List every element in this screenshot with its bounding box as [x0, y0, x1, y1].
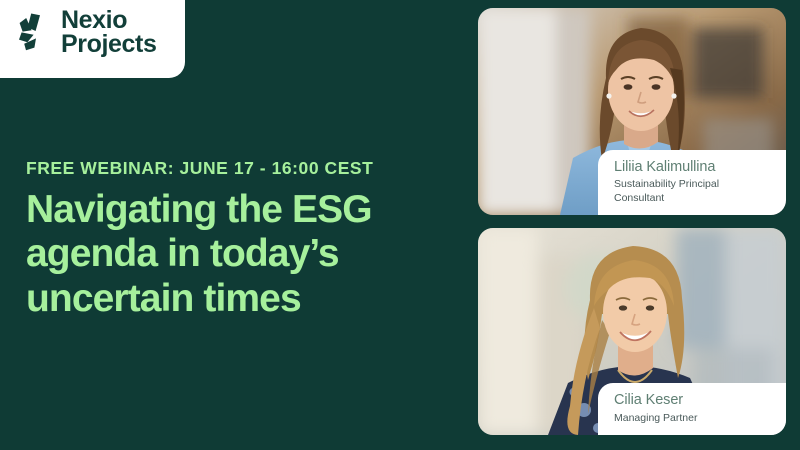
webinar-promo-banner: Nexio Projects FREE WEBINAR: JUNE 17 - 1…: [0, 0, 800, 450]
brand-wordmark: Nexio Projects: [61, 8, 156, 57]
speaker-name: Liliia Kalimullina: [614, 159, 772, 176]
brand-logo-plate[interactable]: Nexio Projects: [0, 0, 185, 78]
logo-line-1: Nexio: [61, 8, 156, 33]
speaker-role: Sustainability Principal Consultant: [614, 178, 764, 205]
speaker-nameplate: Liliia Kalimullina Sustainability Princi…: [598, 150, 786, 215]
speaker-role: Managing Partner: [614, 412, 764, 425]
nexio-starburst-mark-icon: [18, 12, 52, 52]
promo-copy-block: FREE WEBINAR: JUNE 17 - 16:00 CEST Navig…: [26, 158, 446, 321]
speaker-card[interactable]: Liliia Kalimullina Sustainability Princi…: [478, 8, 786, 215]
speaker-nameplate: Cilia Keser Managing Partner: [598, 383, 786, 435]
page-title: Navigating the ESG agenda in today’s unc…: [26, 188, 446, 321]
speaker-name: Cilia Keser: [614, 392, 772, 409]
logo-line-2: Projects: [61, 32, 156, 57]
speaker-card[interactable]: Cilia Keser Managing Partner: [478, 228, 786, 435]
webinar-eyebrow-text: FREE WEBINAR: JUNE 17 - 16:00 CEST: [26, 158, 446, 179]
